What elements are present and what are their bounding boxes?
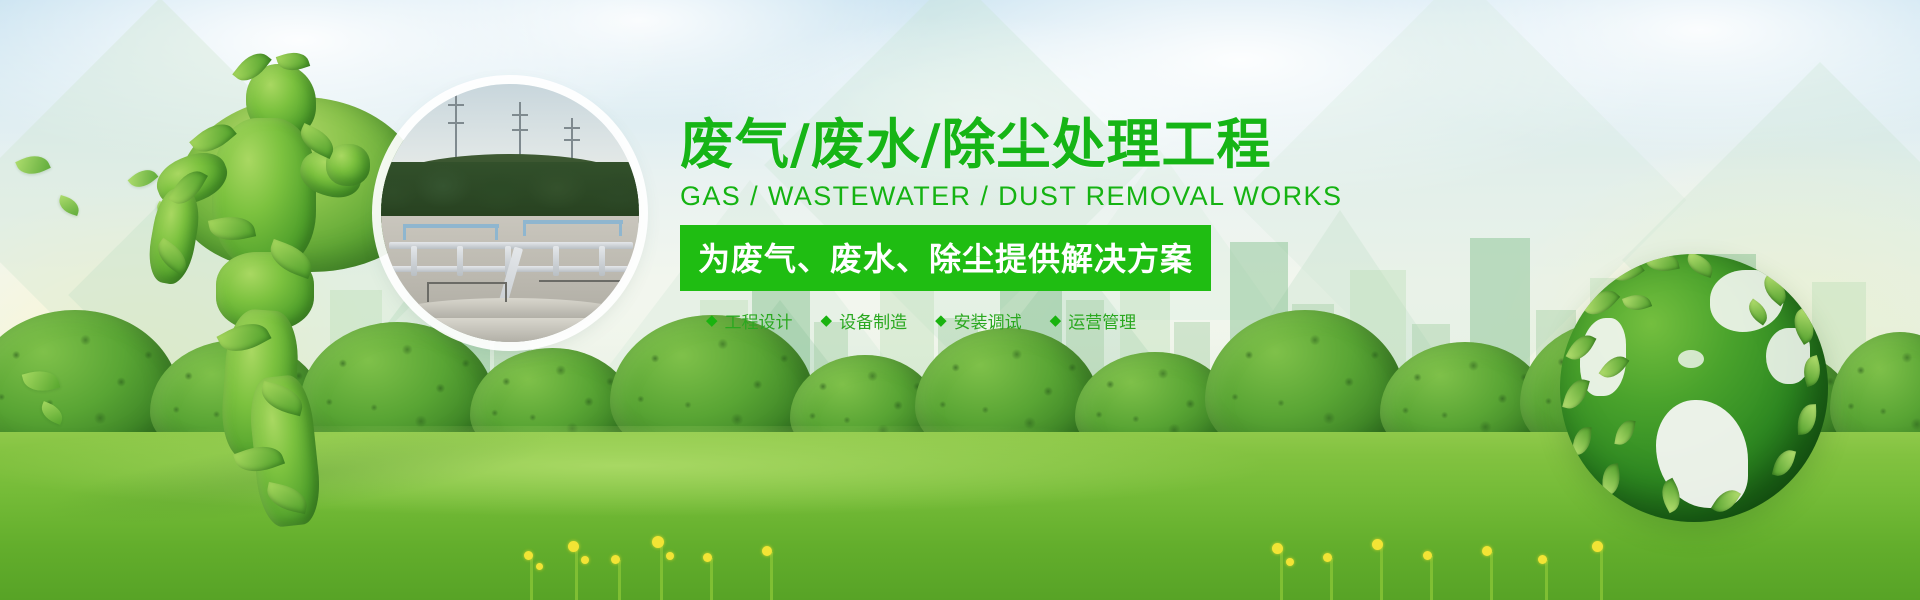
flower-bloom <box>1372 539 1383 550</box>
flower-stem <box>710 558 713 600</box>
diamond-bullet-icon: ◆ <box>706 313 718 328</box>
flower-stem <box>1430 556 1433 600</box>
photo-blue-railing <box>403 224 499 228</box>
flower-stem <box>1380 546 1383 600</box>
leaf-man-figure <box>150 56 380 526</box>
photo-blue-railing <box>403 224 406 240</box>
flower-stem <box>1545 560 1548 600</box>
flower-bloom <box>581 556 589 564</box>
globe-leaf <box>1797 404 1817 435</box>
diamond-bullet-icon: ◆ <box>1050 313 1062 328</box>
diamond-bullet-icon: ◆ <box>821 313 833 328</box>
power-pylon-icon <box>455 90 457 166</box>
globe-leaf <box>1622 290 1652 315</box>
globe-leaf <box>1614 418 1635 447</box>
globe-leaf <box>1644 254 1679 275</box>
continent-shape <box>1678 350 1704 368</box>
diamond-bullet-icon: ◆ <box>935 313 947 328</box>
feature-item-engineering-design[interactable]: ◆ 工程设计 <box>706 308 793 333</box>
flower-bloom <box>703 553 712 562</box>
flower-bloom <box>524 551 533 560</box>
flower-bloom <box>762 546 772 556</box>
globe-leaf <box>1599 463 1623 496</box>
photo-blue-railing <box>523 220 526 236</box>
feature-item-operation-management[interactable]: ◆ 运营管理 <box>1050 308 1137 333</box>
english-subtitle: GAS / WASTEWATER / DUST REMOVAL WORKS <box>680 181 1300 212</box>
photo-blue-railing <box>619 220 622 236</box>
flower-bloom <box>1423 551 1432 560</box>
globe-leaf <box>1573 427 1592 456</box>
flower-bloom <box>1323 553 1332 562</box>
feature-label: 设备制造 <box>839 308 907 333</box>
feature-item-installation-commissioning[interactable]: ◆ 安装调试 <box>935 308 1022 333</box>
photo-pipe <box>457 246 463 276</box>
page-title: 废气/废水/除尘处理工程 <box>680 118 1300 172</box>
photo-blue-railing <box>495 224 498 240</box>
green-leaf-globe <box>1560 254 1828 522</box>
feature-label: 运营管理 <box>1068 308 1136 333</box>
photo-handrail <box>427 282 507 284</box>
flower-bloom <box>1286 558 1294 566</box>
flower-bloom <box>568 541 579 552</box>
headline-text-block: 废气/废水/除尘处理工程 GAS / WASTEWATER / DUST REM… <box>680 118 1300 333</box>
flower-stem <box>1490 552 1493 600</box>
flower-bloom <box>536 563 543 570</box>
photo-handrail <box>539 280 623 282</box>
feature-label: 工程设计 <box>725 308 793 333</box>
flower-stem <box>1280 550 1283 600</box>
photo-pipe <box>411 246 417 276</box>
flower-bloom <box>1272 543 1283 554</box>
flower-stem <box>1330 558 1333 600</box>
globe-leaf <box>1684 254 1716 278</box>
flower-stem <box>770 552 773 600</box>
feature-item-equipment-manufacturing[interactable]: ◆ 设备制造 <box>821 308 908 333</box>
flower-stem <box>530 556 533 600</box>
flower-bloom <box>1482 546 1492 556</box>
slogan-bar: 为废气、废水、除尘提供解决方案 <box>680 225 1211 291</box>
flower-stem <box>1600 548 1603 600</box>
photo-pipe <box>389 242 633 249</box>
flower-bloom <box>666 552 674 560</box>
photo-pipe <box>553 246 559 276</box>
flower-bloom <box>1538 555 1547 564</box>
feature-label: 安装调试 <box>954 308 1022 333</box>
photo-blue-railing <box>523 220 623 224</box>
globe-leaf <box>1562 376 1590 412</box>
eco-engineering-banner: 废气/废水/除尘处理工程 GAS / WASTEWATER / DUST REM… <box>0 0 1920 600</box>
globe-leaf <box>1772 447 1796 479</box>
photo-handrail <box>505 282 507 302</box>
flower-stem <box>618 560 621 600</box>
photo-treeline <box>381 162 639 224</box>
feature-list: ◆ 工程设计 ◆ 设备制造 ◆ 安装调试 ◆ 运营管理 <box>680 308 1300 333</box>
flower-stem <box>575 548 578 600</box>
flower-bloom <box>652 536 664 548</box>
wastewater-plant-photo <box>381 84 639 342</box>
photo-tank <box>381 318 639 342</box>
flower-bloom <box>1592 541 1603 552</box>
photo-handrail <box>427 282 429 302</box>
flower-bloom <box>611 555 620 564</box>
flower-stem <box>660 544 663 600</box>
photo-pipe <box>599 246 605 276</box>
